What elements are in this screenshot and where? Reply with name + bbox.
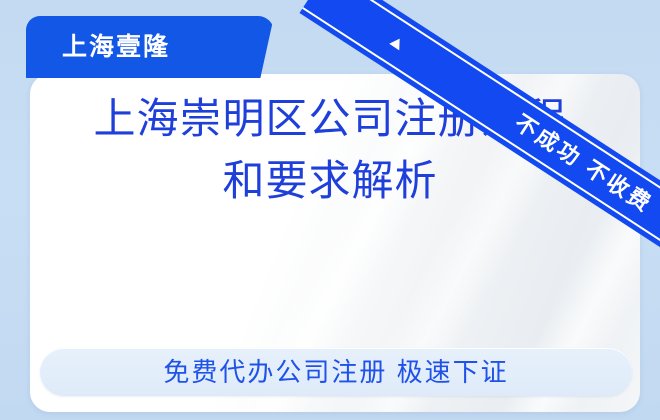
triangle-up-icon xyxy=(389,35,405,50)
brand-tab[interactable]: 上海壹隆 xyxy=(26,16,274,78)
brand-tab-label: 上海壹隆 xyxy=(62,35,170,60)
cta-pill[interactable]: 免费代办公司注册 极速下证 xyxy=(40,348,632,396)
promo-banner: 上海壹隆 上海崇明区公司注册流程 和要求解析 免费代办公司注册 极速下证 不成功… xyxy=(0,0,660,420)
cta-label: 免费代办公司注册 极速下证 xyxy=(163,359,508,385)
